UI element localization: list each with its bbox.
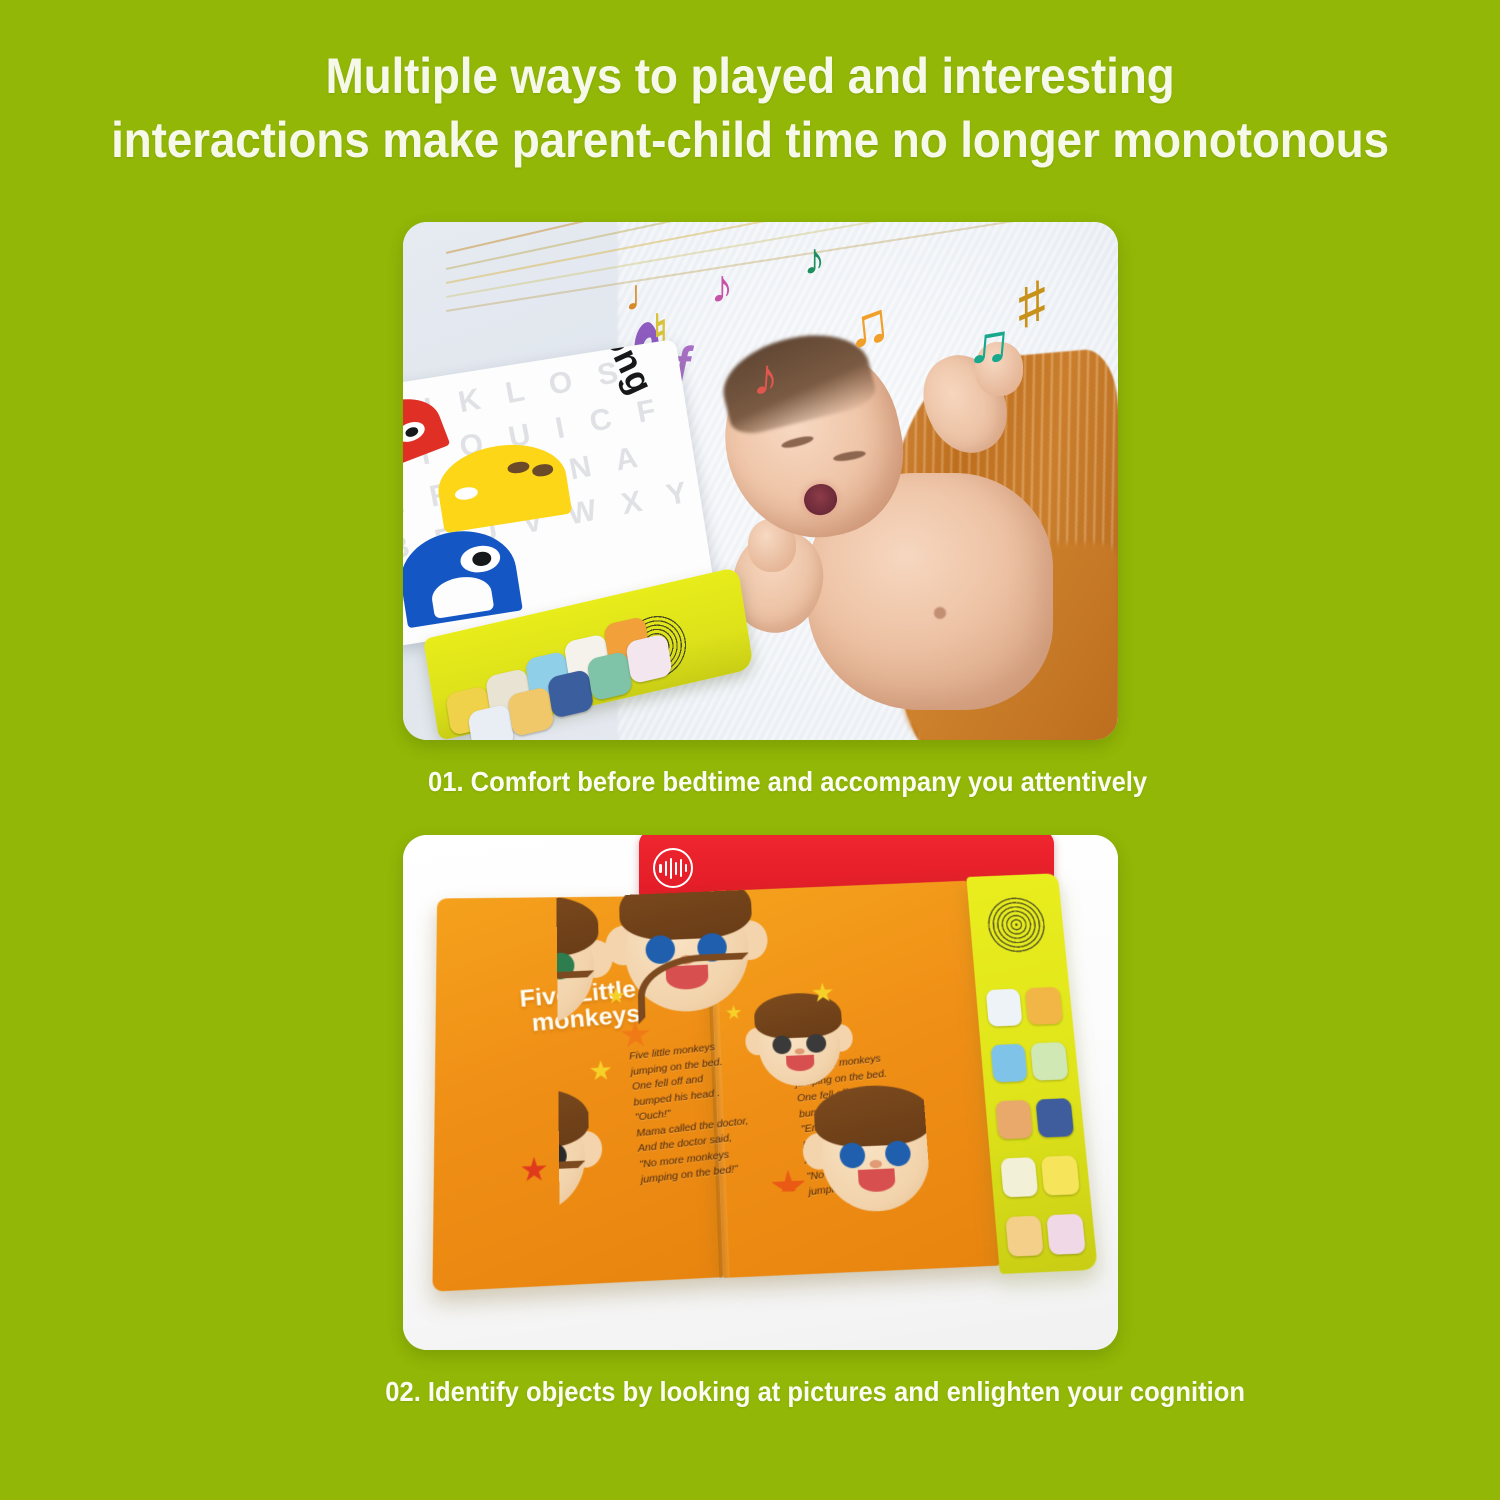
quarter-note-amber-icon: ♩ [625, 274, 669, 318]
sound-button[interactable] [1000, 1157, 1039, 1198]
photo-sleeping-baby: 𝄞♪♫♫♪♪♯♮𝑓♩ G H K L O S P T Q U I C F M R… [403, 222, 1118, 740]
sound-button-group[interactable] [985, 987, 1086, 1257]
sound-button[interactable] [995, 1100, 1033, 1140]
page-title: Multiple ways to played and interesting … [60, 44, 1440, 172]
sound-button[interactable] [1030, 1042, 1068, 1081]
sharp-sign-icon: ♯ [1018, 274, 1046, 330]
beamed-notes-orange-icon: ♫ [843, 292, 894, 356]
blue-belly [429, 573, 494, 619]
monkey-illustration [757, 1005, 842, 1088]
feature-block-01: 𝄞♪♫♫♪♪♯♮𝑓♩ G H K L O S P T Q U I C F M R… [403, 222, 1118, 798]
feature-caption-02: 02. Identify objects by looking at pictu… [385, 1376, 1136, 1408]
sound-button[interactable] [1041, 1155, 1080, 1196]
sound-button[interactable] [585, 651, 632, 702]
yellow-eye-left [507, 460, 530, 475]
sound-button[interactable] [1036, 1098, 1075, 1138]
sound-button[interactable] [1046, 1214, 1085, 1256]
star-icon [620, 1020, 650, 1050]
sound-button[interactable] [1025, 987, 1063, 1025]
star-icon [589, 1060, 611, 1083]
star-icon [669, 1215, 688, 1235]
eighth-note-magenta-icon: ♪ [710, 263, 733, 309]
eighth-note-green-icon: ♪ [803, 238, 825, 282]
photo-monkeys-book: Five Little monkeys Five little monkeys … [403, 835, 1118, 1350]
abc-song-sound-book: G H K L O S P T Q U I C F M R S D N A B … [403, 339, 728, 727]
feature-block-02: Five Little monkeys Five little monkeys … [403, 835, 1118, 1408]
feature-caption-01: 01. Comfort before bedtime and accompany… [428, 766, 1093, 798]
yellow-highlight [453, 485, 478, 501]
speaker-grille-icon [986, 897, 1048, 954]
sound-button[interactable] [1005, 1216, 1044, 1258]
sound-button[interactable] [985, 989, 1023, 1027]
eighth-note-red-icon: ♪ [752, 351, 782, 405]
beamed-notes-teal-icon: ♫ [965, 313, 1013, 375]
headline-line-1: Multiple ways to played and interesting [60, 44, 1440, 108]
star-icon [607, 987, 625, 1005]
yellow-eye-right [530, 462, 553, 477]
headline-line-2: interactions make parent-child time no l… [60, 108, 1440, 172]
sound-button[interactable] [990, 1044, 1028, 1083]
open-book-spread: Five Little monkeys Five little monkeys … [436, 878, 1087, 1292]
